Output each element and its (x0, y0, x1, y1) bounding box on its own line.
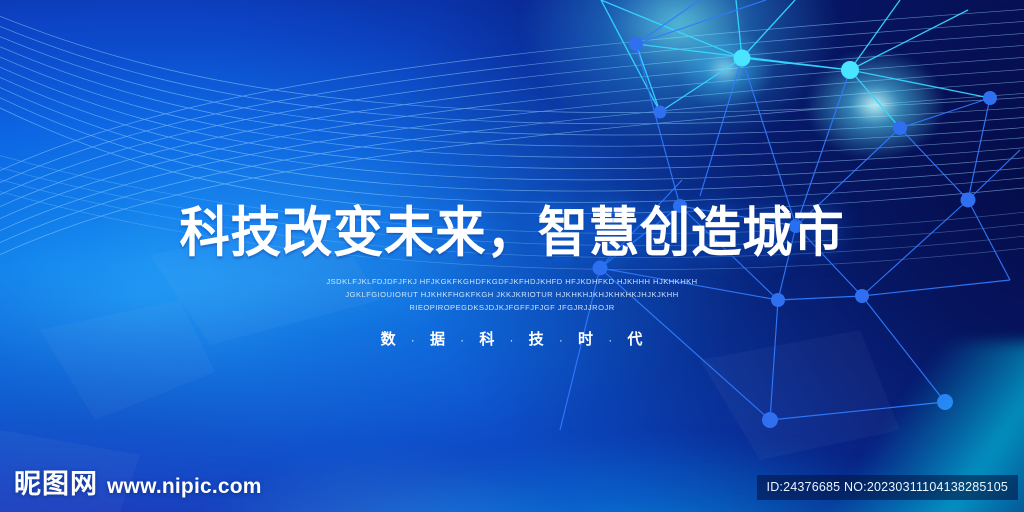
tagline-dot-4: · (559, 333, 564, 347)
watermark-brand-logo: 昵图网 (14, 471, 98, 498)
tagline: 数 · 据 · 科 · 技 · 时 · 代 (0, 328, 1024, 349)
tagline-word-5: 时 (578, 331, 594, 348)
banner-canvas: 科技改变未来，智慧创造城市 JSDKLFJKLFDJDFJFKJ HFJKGKF… (0, 0, 1024, 512)
subtitle-line-3: RIEOPIROPEGDKSJDJKJFGFFJFJGF JFGJRJJROJR (0, 301, 1024, 314)
tagline-word-2: 据 (430, 331, 446, 348)
tagline-dot-3: · (510, 333, 515, 347)
subtitle-lines: JSDKLFJKLFDJDFJFKJ HFJKGKFKGHDFKGDFJKFHD… (0, 275, 1024, 314)
tagline-word-3: 科 (479, 331, 495, 348)
tagline-word-6: 代 (627, 331, 643, 348)
tagline-dot-1: · (411, 333, 416, 347)
image-id-badge: ID:24376685 NO:20230311104138285105 (757, 475, 1018, 500)
tagline-word-4: 技 (529, 331, 545, 348)
tagline-dot-5: · (608, 333, 613, 347)
poster-text-block: 科技改变未来，智慧创造城市 JSDKLFJKLFDJDFJFKJ HFJKGKF… (0, 206, 1024, 349)
subtitle-line-1: JSDKLFJKLFDJDFJFKJ HFJKGKFKGHDFKGDFJKFHD… (0, 275, 1024, 288)
watermark-url: www.nipic.com (107, 476, 262, 498)
tagline-word-1: 数 (381, 331, 397, 348)
subtitle-line-2: JGKLFGIOUIORUT HJKHKFHGKFKGH JKKJKRIOTUR… (0, 288, 1024, 301)
tagline-dot-2: · (460, 333, 465, 347)
watermark: 昵图网 www.nipic.com (14, 471, 262, 498)
page-title: 科技改变未来，智慧创造城市 (36, 206, 988, 260)
